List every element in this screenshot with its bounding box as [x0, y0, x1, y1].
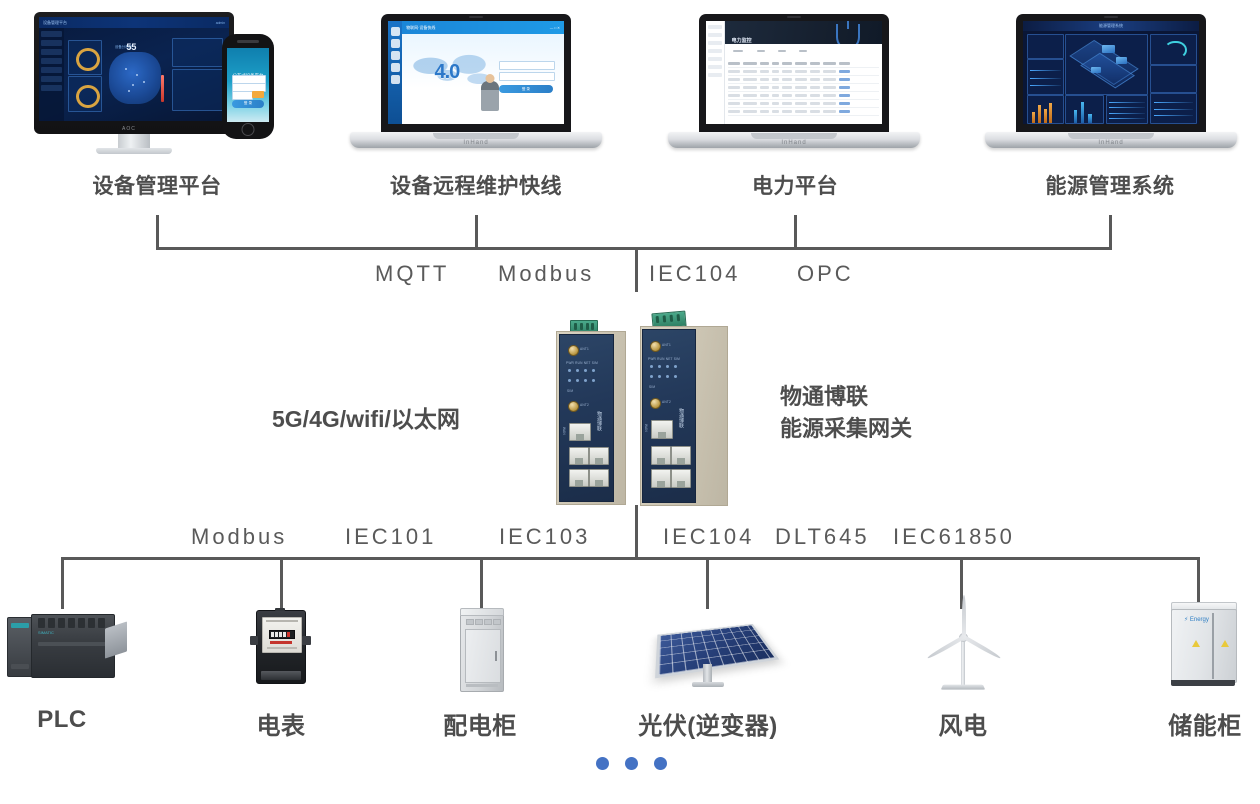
- laptop-lid: 能源管理系统: [1016, 14, 1206, 134]
- map-dot: [143, 81, 145, 83]
- south-drop-plc: [61, 557, 64, 609]
- wan-label: WAN: [562, 427, 566, 435]
- south-protocol-iec61850: IEC61850: [893, 524, 1015, 550]
- stat-item: [799, 50, 807, 53]
- south-drop-solar: [706, 557, 709, 609]
- list-line: [1109, 113, 1145, 114]
- map-dot: [136, 74, 138, 76]
- bar: [1074, 110, 1077, 123]
- sim-slot-label: SIM: [649, 385, 655, 389]
- power-data-table[interactable]: [725, 58, 882, 124]
- monitor-stand-base: [96, 148, 172, 154]
- plc-brand: SIMATIC: [38, 630, 54, 635]
- field-node-storage[interactable]: ⚡ Energy: [1165, 600, 1245, 692]
- laptop-brand: InHand: [463, 140, 488, 146]
- laptop-camera: [469, 16, 483, 18]
- indicator-dot: [596, 757, 609, 770]
- lan-port-3: [651, 469, 671, 488]
- status-led: [658, 365, 661, 368]
- platform-label-remote-line: 设备远程维护快线: [366, 170, 586, 200]
- storage-base: [1171, 680, 1235, 686]
- iso-building: [1102, 45, 1115, 53]
- digit: [283, 632, 286, 637]
- status-led: [576, 369, 579, 372]
- laptop-screen: 能源管理系统: [1023, 21, 1199, 124]
- sidebar-item: [41, 31, 62, 37]
- phone-login-ui: 分布式设备平台 登 录: [227, 48, 269, 122]
- status-led-labels: PWR RUN NET SIM: [648, 357, 680, 361]
- left-panel-2: [1027, 59, 1064, 95]
- platform-label-device-management: 设备管理平台: [57, 170, 257, 200]
- map-dot: [128, 90, 130, 92]
- solar-mount-pole: [703, 664, 712, 684]
- laptop-screen: 电力监控: [706, 21, 882, 124]
- bar: [1081, 102, 1084, 123]
- antenna-label-2: ANT2: [662, 400, 671, 404]
- field-node-plc[interactable]: SIMATIC: [5, 605, 130, 690]
- warning-icon: [1221, 640, 1229, 647]
- hero-4g-text: 4.0: [434, 61, 459, 84]
- north-drop-3: [794, 215, 797, 248]
- solar-base-plate: [692, 682, 724, 687]
- app-icon[interactable]: [391, 75, 400, 84]
- energy-topbar: 能源管理系统: [1023, 21, 1199, 31]
- south-bus-line: [61, 557, 1199, 560]
- right-panel-1: [1150, 34, 1198, 65]
- north-drop-4: [1109, 215, 1112, 248]
- power-main: 电力监控: [725, 21, 882, 124]
- south-protocol-iec103: IEC103: [499, 524, 590, 550]
- cabinet-base-vent: [466, 684, 498, 687]
- gateway-name-line-2: 能源采集网关: [780, 413, 912, 445]
- sidebar-item: [708, 73, 722, 77]
- status-led: [650, 375, 653, 378]
- turbine-tower: [961, 636, 965, 686]
- right-panel-2: [1150, 65, 1198, 93]
- meter-top-clip: [275, 608, 285, 611]
- map-metric-value: 55: [126, 42, 136, 52]
- field-label-meter: 电表: [231, 706, 331, 741]
- status-led: [592, 369, 595, 372]
- cabinet-handle[interactable]: [495, 651, 497, 661]
- solar-panel-array: [655, 624, 779, 679]
- list-line: [1109, 102, 1145, 103]
- antenna-connector-2: [568, 401, 579, 412]
- map-dot: [125, 68, 127, 70]
- list-line: [1109, 118, 1145, 119]
- laptop-lid: 电力监控: [699, 14, 889, 134]
- left-panel-1: [1027, 34, 1064, 59]
- trend-bar: [161, 75, 164, 102]
- meter-body: [256, 610, 306, 684]
- turbine-base: [941, 685, 985, 690]
- storage-brand-logo: ⚡ Energy: [1184, 616, 1209, 623]
- window-controls[interactable]: — □ ✕: [550, 26, 560, 30]
- laptop-screen: 物联网·设备快线 — □ ✕ 4.0 登 录: [388, 21, 564, 124]
- gauge: [1164, 41, 1186, 59]
- lan-port-3: [569, 469, 589, 487]
- right-panel-3: [1150, 93, 1198, 124]
- antenna-label-1: ANT1: [580, 347, 589, 351]
- status-led: [592, 379, 595, 382]
- platform-node-remote-line[interactable]: 物联网·设备快线 — □ ✕ 4.0 登 录: [350, 14, 602, 150]
- gateway-device-left[interactable]: ANT1 PWR RUN NET SIM SIM ANT2 物通博联 WAN: [550, 320, 632, 505]
- platform-label-energy-system: 能源管理系统: [1030, 170, 1190, 200]
- sim-slot-label: SIM: [567, 389, 573, 393]
- laptop-base: InHand: [985, 132, 1237, 148]
- gateway-name-line-1: 物通博联: [780, 381, 912, 413]
- gateway-device-right[interactable]: ANT1 PWR RUN NET SIM SIM ANT2 物通博联 WAN: [636, 312, 736, 504]
- status-led: [584, 379, 587, 382]
- bar: [1044, 109, 1047, 123]
- lan-port-4: [589, 469, 609, 487]
- login-button[interactable]: 登 录: [499, 85, 552, 93]
- table-header-row: [728, 60, 879, 68]
- login-window-title: 物联网·设备快线: [406, 25, 435, 31]
- north-protocol-modbus: Modbus: [498, 261, 594, 287]
- energy-title: 能源管理系统: [1099, 23, 1123, 29]
- uplink-label: 5G/4G/wifi/以太网: [272, 400, 460, 434]
- wan-port: [569, 423, 591, 441]
- sidebar-item: [41, 40, 62, 46]
- laptop-brand: InHand: [781, 140, 806, 146]
- list-line: [1154, 102, 1192, 103]
- hero-person-illustration: [481, 81, 499, 111]
- field-label-storage: 储能柜: [1155, 706, 1255, 741]
- field-node-meter[interactable]: [248, 608, 314, 690]
- dashboard-title: 设备管理平台: [43, 20, 67, 26]
- indicator-dot: [625, 757, 638, 770]
- indicator-dot: [654, 757, 667, 770]
- digit: [287, 632, 290, 637]
- center-list-panel: [1106, 95, 1148, 124]
- lan-port-2: [671, 446, 691, 465]
- laptop-trackpad-notch: [1068, 133, 1154, 139]
- laptop-brand: InHand: [1098, 140, 1123, 146]
- app-launcher-bar: [388, 21, 402, 124]
- antenna-label-1: ANT1: [662, 343, 671, 347]
- field-node-wind[interactable]: [920, 608, 1006, 694]
- laptop-lid: 物联网·设备快线 — □ ✕ 4.0 登 录: [381, 14, 571, 134]
- warning-icon: [1192, 640, 1200, 647]
- meter-faceplate: [262, 617, 302, 653]
- plc-terminal-strip: [11, 664, 29, 669]
- status-led: [584, 369, 587, 372]
- monitor-brand: AOC: [122, 126, 136, 132]
- bar: [1038, 105, 1041, 123]
- south-drop-meter: [280, 557, 283, 609]
- cabinet-vent: [484, 619, 492, 625]
- digit: [275, 632, 278, 637]
- antenna-connector-1: [650, 341, 661, 352]
- plc-label-strip: [38, 642, 108, 646]
- iso-building: [1091, 67, 1101, 73]
- status-led: [658, 375, 661, 378]
- bar: [1049, 103, 1052, 123]
- south-protocol-iec101: IEC101: [345, 524, 436, 550]
- north-drop-1: [156, 215, 159, 248]
- antenna-connector-1: [568, 345, 579, 356]
- china-map: [109, 52, 160, 104]
- lan-port-1: [651, 446, 671, 465]
- wan-port: [651, 420, 673, 439]
- platform-label-power-platform: 电力平台: [715, 170, 875, 200]
- north-protocol-iec104: IEC104: [649, 261, 740, 287]
- sidebar-item: [708, 57, 722, 61]
- phone-captcha-input[interactable]: [232, 91, 252, 100]
- status-led: [650, 365, 653, 368]
- platform-node-energy-system[interactable]: 能源管理系统: [985, 14, 1237, 150]
- anchor-graphic: [836, 24, 860, 44]
- list-line: [1109, 107, 1145, 108]
- sidebar-item: [708, 65, 722, 69]
- energy-system-ui: 能源管理系统: [1023, 21, 1199, 124]
- list-line: [1154, 115, 1192, 116]
- device-platform-dashboard: 设备管理平台 admin: [39, 17, 229, 121]
- cabinet-vent: [466, 619, 474, 625]
- lan-port-2: [589, 447, 609, 465]
- status-led: [576, 379, 579, 382]
- table-row[interactable]: [728, 84, 879, 92]
- field-label-solar: 光伏(逆变器): [638, 706, 778, 741]
- gateway-brand-text: 物通博联: [596, 411, 603, 431]
- login-window-body: 4.0 登 录: [402, 34, 564, 124]
- status-led: [674, 365, 677, 368]
- app-icon[interactable]: [391, 39, 400, 48]
- dashboard-sidebar: [39, 28, 64, 121]
- south-drop-cabinet: [480, 557, 483, 609]
- platform-node-device-management[interactable]: 设备管理平台 admin: [18, 8, 298, 153]
- digit: [271, 632, 274, 637]
- stat-item: [757, 50, 765, 53]
- phone-captcha-image[interactable]: [252, 91, 264, 98]
- login-window-titlebar: 物联网·设备快线 — □ ✕: [402, 21, 564, 34]
- status-led: [568, 379, 571, 382]
- right-panel-bottom: [172, 69, 223, 111]
- login-window: 物联网·设备快线 — □ ✕ 4.0 登 录: [402, 21, 564, 124]
- table-row[interactable]: [728, 100, 879, 108]
- antenna-connector-2: [650, 398, 661, 409]
- field-label-plc: PLC: [12, 706, 112, 734]
- south-protocol-iec104: IEC104: [663, 524, 754, 550]
- gauge-ring: [76, 85, 100, 108]
- south-gateway-riser: [635, 505, 638, 558]
- north-protocol-mqtt: MQTT: [375, 261, 449, 287]
- left-panel-top: [68, 40, 102, 75]
- meter-red-strip: [270, 641, 292, 644]
- sidebar-item: [41, 76, 62, 82]
- antenna-label-2: ANT2: [580, 403, 589, 407]
- trend-line: [1030, 70, 1061, 71]
- center-3d-scene: [1065, 34, 1148, 95]
- turbine-blade: [961, 634, 1001, 659]
- trend-line: [1030, 85, 1061, 86]
- sidebar-item: [41, 67, 62, 73]
- faceplate-line: [267, 647, 297, 649]
- sidebar-item: [41, 58, 62, 64]
- bar: [1032, 112, 1035, 123]
- table-row[interactable]: [728, 108, 879, 116]
- north-bus-line: [156, 247, 1112, 250]
- edge-icon[interactable]: [391, 27, 400, 36]
- south-protocol-modbus: Modbus: [191, 524, 287, 550]
- lan-port-1: [569, 447, 589, 465]
- bar: [1088, 114, 1091, 123]
- table-row[interactable]: [728, 76, 879, 84]
- map-dot: [132, 84, 134, 86]
- monitor-frame: 设备管理平台 admin: [34, 12, 234, 134]
- meter-mount-lug: [302, 636, 311, 645]
- cabinet-body: [460, 612, 504, 692]
- phone-login-button[interactable]: 登 录: [232, 100, 264, 108]
- banner-title: 电力监控: [732, 29, 752, 44]
- field-label-cabinet: 配电柜: [430, 706, 530, 741]
- status-led-labels: PWR RUN NET SIM: [566, 361, 598, 365]
- center-bottom-panel: [1065, 95, 1104, 124]
- left-panel-3: [1027, 95, 1064, 124]
- meter-terminal-cover: [261, 671, 301, 680]
- status-led: [674, 375, 677, 378]
- right-panel-top: [172, 38, 223, 67]
- faceplate-line: [266, 620, 298, 622]
- laptop-base: InHand: [350, 132, 602, 148]
- sidebar-item: [708, 25, 722, 29]
- sidebar-item: [708, 33, 722, 37]
- field-node-solar[interactable]: [650, 608, 770, 692]
- cabinet-top-cap: [460, 608, 504, 616]
- trend-line: [1030, 78, 1061, 79]
- dashboard-user: admin: [216, 21, 225, 25]
- diagram-canvas: 设备管理平台 admin: [0, 0, 1260, 804]
- turbine-blade: [962, 595, 966, 639]
- phone-screen: 分布式设备平台 登 录: [227, 48, 269, 122]
- field-node-cabinet[interactable]: [452, 604, 512, 692]
- gauge-ring: [76, 48, 100, 71]
- phone-speaker: [237, 40, 259, 43]
- north-drop-2: [475, 215, 478, 248]
- cabinet-vent: [493, 619, 501, 625]
- meter-digital-display: [269, 630, 295, 639]
- stat-item: [778, 50, 786, 53]
- sidebar-item: [41, 85, 62, 91]
- username-input[interactable]: [499, 61, 554, 70]
- north-protocol-opc: OPC: [797, 261, 854, 287]
- storage-door-split: [1212, 613, 1214, 679]
- storage-cabinet-body: ⚡ Energy: [1171, 609, 1237, 683]
- meter-mount-lug: [250, 636, 258, 645]
- app-icon[interactable]: [391, 51, 400, 60]
- wan-label: WAN: [644, 424, 648, 432]
- remote-line-login-ui: 物联网·设备快线 — □ ✕ 4.0 登 录: [388, 21, 564, 124]
- south-protocol-dlt645: DLT645: [775, 524, 870, 550]
- monitor-screen: 设备管理平台 admin: [39, 17, 229, 121]
- gateway-front-panel: ANT1 PWR RUN NET SIM SIM ANT2 物通博联 WAN: [642, 329, 696, 503]
- plc-din-rail: [105, 621, 127, 658]
- app-icon[interactable]: [391, 63, 400, 72]
- cabinet-vent: [475, 619, 483, 625]
- lan-port-4: [671, 469, 691, 488]
- status-led: [568, 369, 571, 372]
- more-devices-indicator: [596, 757, 668, 773]
- power-sidebar: [706, 21, 725, 124]
- sidebar-item: [708, 49, 722, 53]
- phone-home-button[interactable]: [242, 123, 255, 136]
- sidebar-item: [708, 41, 722, 45]
- sidebar-item: [41, 49, 62, 55]
- dashboard-topbar: 设备管理平台 admin: [39, 17, 229, 28]
- iso-building: [1116, 57, 1127, 64]
- status-led: [666, 365, 669, 368]
- plc-cpu-module: SIMATIC: [31, 614, 115, 678]
- power-banner: 电力监控: [725, 21, 882, 44]
- gateway-front-panel: ANT1 PWR RUN NET SIM SIM ANT2 物通博联 WAN: [559, 334, 614, 502]
- laptop-trackpad-notch: [433, 133, 519, 139]
- gateway-brand-text: 物通博联: [678, 408, 685, 428]
- stat-item: [733, 50, 743, 53]
- phone-frame: 分布式设备平台 登 录: [222, 34, 274, 139]
- digit: [279, 632, 282, 637]
- power-platform-ui: 电力监控: [706, 21, 882, 124]
- table-row[interactable]: [728, 68, 879, 76]
- platform-node-power-platform[interactable]: 电力监控: [668, 14, 920, 150]
- table-row[interactable]: [728, 92, 879, 100]
- password-input[interactable]: [499, 72, 554, 81]
- left-panel-bottom: [68, 76, 102, 111]
- plc-terminal-strip: [11, 623, 29, 628]
- power-stat-row: [725, 44, 882, 58]
- status-led: [666, 375, 669, 378]
- list-line: [1154, 109, 1192, 110]
- laptop-camera: [787, 16, 801, 18]
- laptop-trackpad-notch: [751, 133, 837, 139]
- north-gateway-riser: [635, 247, 638, 292]
- laptop-camera: [1104, 16, 1118, 18]
- field-label-wind: 风电: [913, 706, 1013, 741]
- laptop-base: InHand: [668, 132, 920, 148]
